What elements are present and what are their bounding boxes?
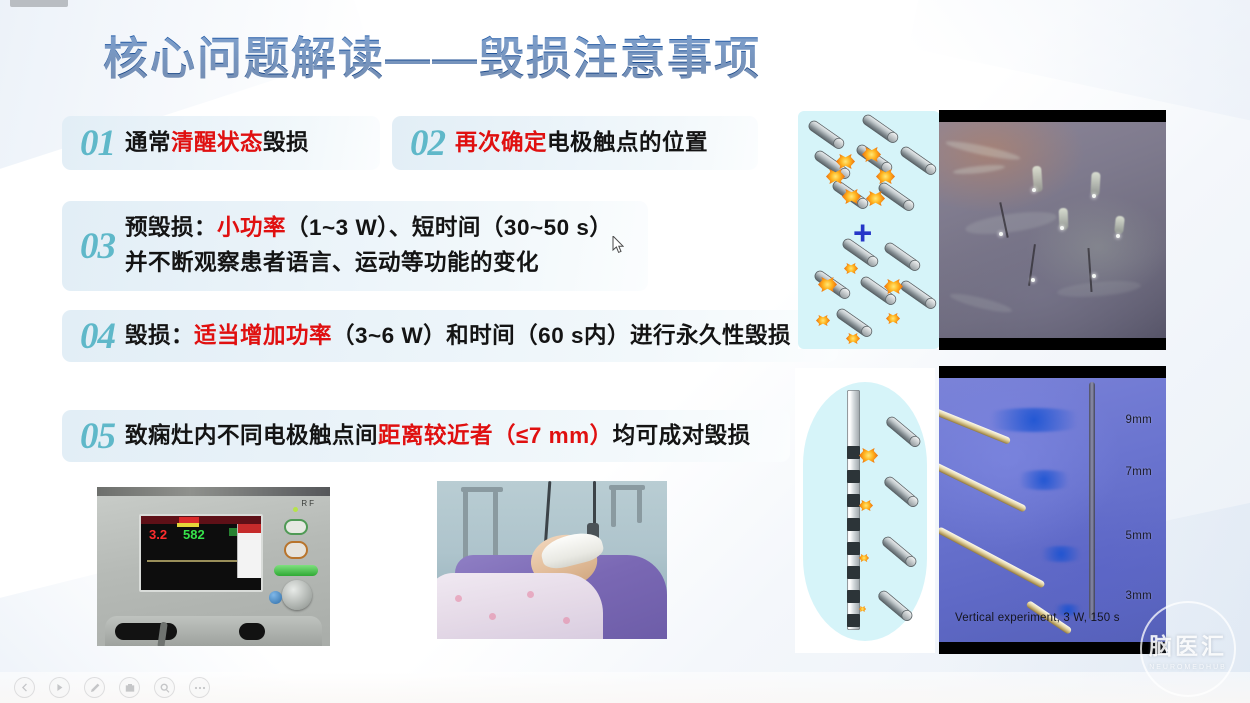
bullet-05-seg-0: 致痫灶内不同电极触点间 [125, 423, 378, 448]
video-player-toolbar[interactable] [0, 672, 1250, 703]
electrode-contact [847, 518, 860, 531]
bullet-04-seg-2: （3~6 W）和时间（60 s内）进行永久性毁损 [332, 323, 791, 348]
bullet-item-04: 04 毁损：适当增加功率（3~6 W）和时间（60 s内）进行永久性毁损 [62, 310, 838, 362]
bullet-03-line-1: 预毁损：小功率（1~3 W）、短时间（30~50 s） [125, 211, 612, 246]
bullet-03-l1-seg-2: （1~3 W）、短时间（30~50 s） [286, 215, 612, 240]
electrode-contact [847, 566, 860, 579]
electrode-contact [847, 446, 860, 459]
rf-generator-photo[interactable]: RF 3.2 582 [97, 487, 330, 646]
device-green-bar [274, 565, 318, 576]
bullet-text-05: 致痫灶内不同电极触点间距离较近者（≤7 mm）均可成对毁损 [125, 420, 767, 453]
scale-label-5mm: 5mm [1126, 530, 1152, 542]
bullet-03-l1-seg-0: 预毁损： [125, 215, 217, 240]
electrode-distance-lesion-diagram [795, 368, 935, 653]
dye-lesion-spot [1035, 546, 1087, 562]
device-port [115, 623, 177, 640]
slide-title: 核心问题解读——毁损注意事项 [103, 22, 761, 87]
bullet-number-02: 02 [392, 125, 455, 162]
bullet-item-03: 03 预毁损：小功率（1~3 W）、短时间（30~50 s） 并不断观察患者语言… [62, 201, 648, 291]
presentation-slide: 核心问题解读——毁损注意事项 01 通常清醒状态毁损 02 再次确定电极触点的位… [0, 0, 1250, 703]
scale-label-3mm: 3mm [1126, 590, 1152, 602]
scale-label-7mm: 7mm [1126, 466, 1152, 478]
previous-button[interactable] [14, 677, 35, 698]
impedance-reading: 582 [183, 527, 205, 542]
channel-watermark: 脑医汇 NEUROMEDHUB [1140, 601, 1236, 697]
device-blue-knob[interactable] [269, 591, 282, 604]
scale-label-9mm: 9mm [1126, 414, 1152, 426]
bullet-01-seg-1: 清醒状态 [171, 130, 263, 155]
bullet-04-seg-1: 适当增加功率 [194, 323, 332, 348]
electrode-contact [847, 542, 860, 555]
electrode-contact [847, 590, 860, 603]
video-frame: 9mm 7mm 5mm 3mm Vertical experiment, 3 W… [939, 378, 1166, 642]
bullet-item-05: 05 致痫灶内不同电极触点间距离较近者（≤7 mm）均可成对毁损 [62, 410, 790, 462]
bullet-text-01: 通常清醒状态毁损 [125, 127, 325, 160]
letterbox-top [939, 366, 1166, 378]
vertical-experiment-video[interactable]: 9mm 7mm 5mm 3mm Vertical experiment, 3 W… [939, 366, 1166, 654]
video-frame [939, 122, 1166, 338]
probe-electrode [939, 526, 1046, 589]
bullet-05-seg-1: 距离较近者（≤7 mm） [378, 423, 613, 448]
bullet-02-seg-0: 再次确定 [455, 130, 547, 155]
screen-header-bar [141, 516, 261, 524]
annotate-button[interactable] [84, 677, 105, 698]
bullet-number-03: 03 [62, 228, 125, 265]
bullet-number-05: 05 [62, 418, 125, 455]
probe-electrode [939, 458, 1027, 513]
bullet-number-04: 04 [62, 318, 125, 355]
electrode-contact [847, 614, 860, 627]
bullet-01-seg-2: 毁损 [263, 130, 309, 155]
surgical-video-top[interactable] [939, 110, 1166, 350]
device-top-strip [97, 487, 330, 496]
diagram-background [803, 382, 927, 641]
zoom-button[interactable] [154, 677, 175, 698]
device-port [239, 623, 265, 640]
screen-side-panel [237, 524, 261, 578]
play-button[interactable] [49, 677, 70, 698]
bullet-05-seg-2: 均可成对毁损 [613, 423, 751, 448]
device-brand-label: RF [301, 499, 316, 508]
power-reading: 3.2 [149, 527, 167, 542]
paired-electrode-lesion-diagram: + [798, 111, 940, 349]
screenshot-button[interactable] [119, 677, 140, 698]
electrode-contact [847, 470, 860, 483]
device-green-button[interactable] [284, 519, 308, 535]
patient-blanket [437, 573, 603, 639]
bullet-04-seg-0: 毁损： [125, 323, 194, 348]
bullet-03-line-2: 并不断观察患者语言、运动等功能的变化 [125, 246, 612, 281]
letterbox-bottom [939, 338, 1166, 350]
bullet-text-02: 再次确定电极触点的位置 [455, 127, 724, 160]
operating-room-background [437, 481, 667, 639]
bullet-text-03: 预毁损：小功率（1~3 W）、短时间（30~50 s） 并不断观察患者语言、运动… [125, 211, 628, 281]
bullet-item-02: 02 再次确定电极触点的位置 [392, 116, 758, 170]
device-orange-button[interactable] [284, 541, 308, 559]
patient-photo[interactable] [437, 481, 667, 639]
screen-waveform [147, 560, 251, 562]
bullet-01-seg-0: 通常 [125, 130, 171, 155]
device-rotary-knob[interactable] [282, 580, 312, 610]
mouse-cursor [612, 236, 624, 254]
watermark-subtext: NEUROMEDHUB [1149, 664, 1227, 671]
bullet-number-01: 01 [62, 125, 125, 162]
bullet-02-seg-1: 电极触点的位置 [547, 130, 708, 155]
letterbox-top [939, 110, 1166, 122]
bullet-item-01: 01 通常清醒状态毁损 [62, 116, 380, 170]
more-button[interactable] [189, 677, 210, 698]
window-chrome-stub [10, 0, 68, 7]
dye-lesion-spot [975, 408, 1093, 432]
bullet-03-l2-seg-0: 并不断观察患者语言、运动等功能的变化 [125, 250, 539, 275]
letterbox-bottom [939, 642, 1166, 654]
dye-lesion-spot [1011, 470, 1077, 490]
decorative-shape-top-right [908, 0, 1250, 127]
watermark-text: 脑医汇 [1149, 627, 1227, 661]
status-led [293, 507, 298, 512]
bullet-text-04: 毁损：适当增加功率（3~6 W）和时间（60 s内）进行永久性毁损 [125, 320, 807, 353]
device-body: RF 3.2 582 [97, 487, 330, 646]
video-caption: Vertical experiment, 3 W, 150 s [955, 612, 1120, 624]
device-screen: 3.2 582 [139, 514, 263, 592]
electrode-contact [847, 494, 860, 507]
bullet-03-l1-seg-1: 小功率 [217, 215, 286, 240]
